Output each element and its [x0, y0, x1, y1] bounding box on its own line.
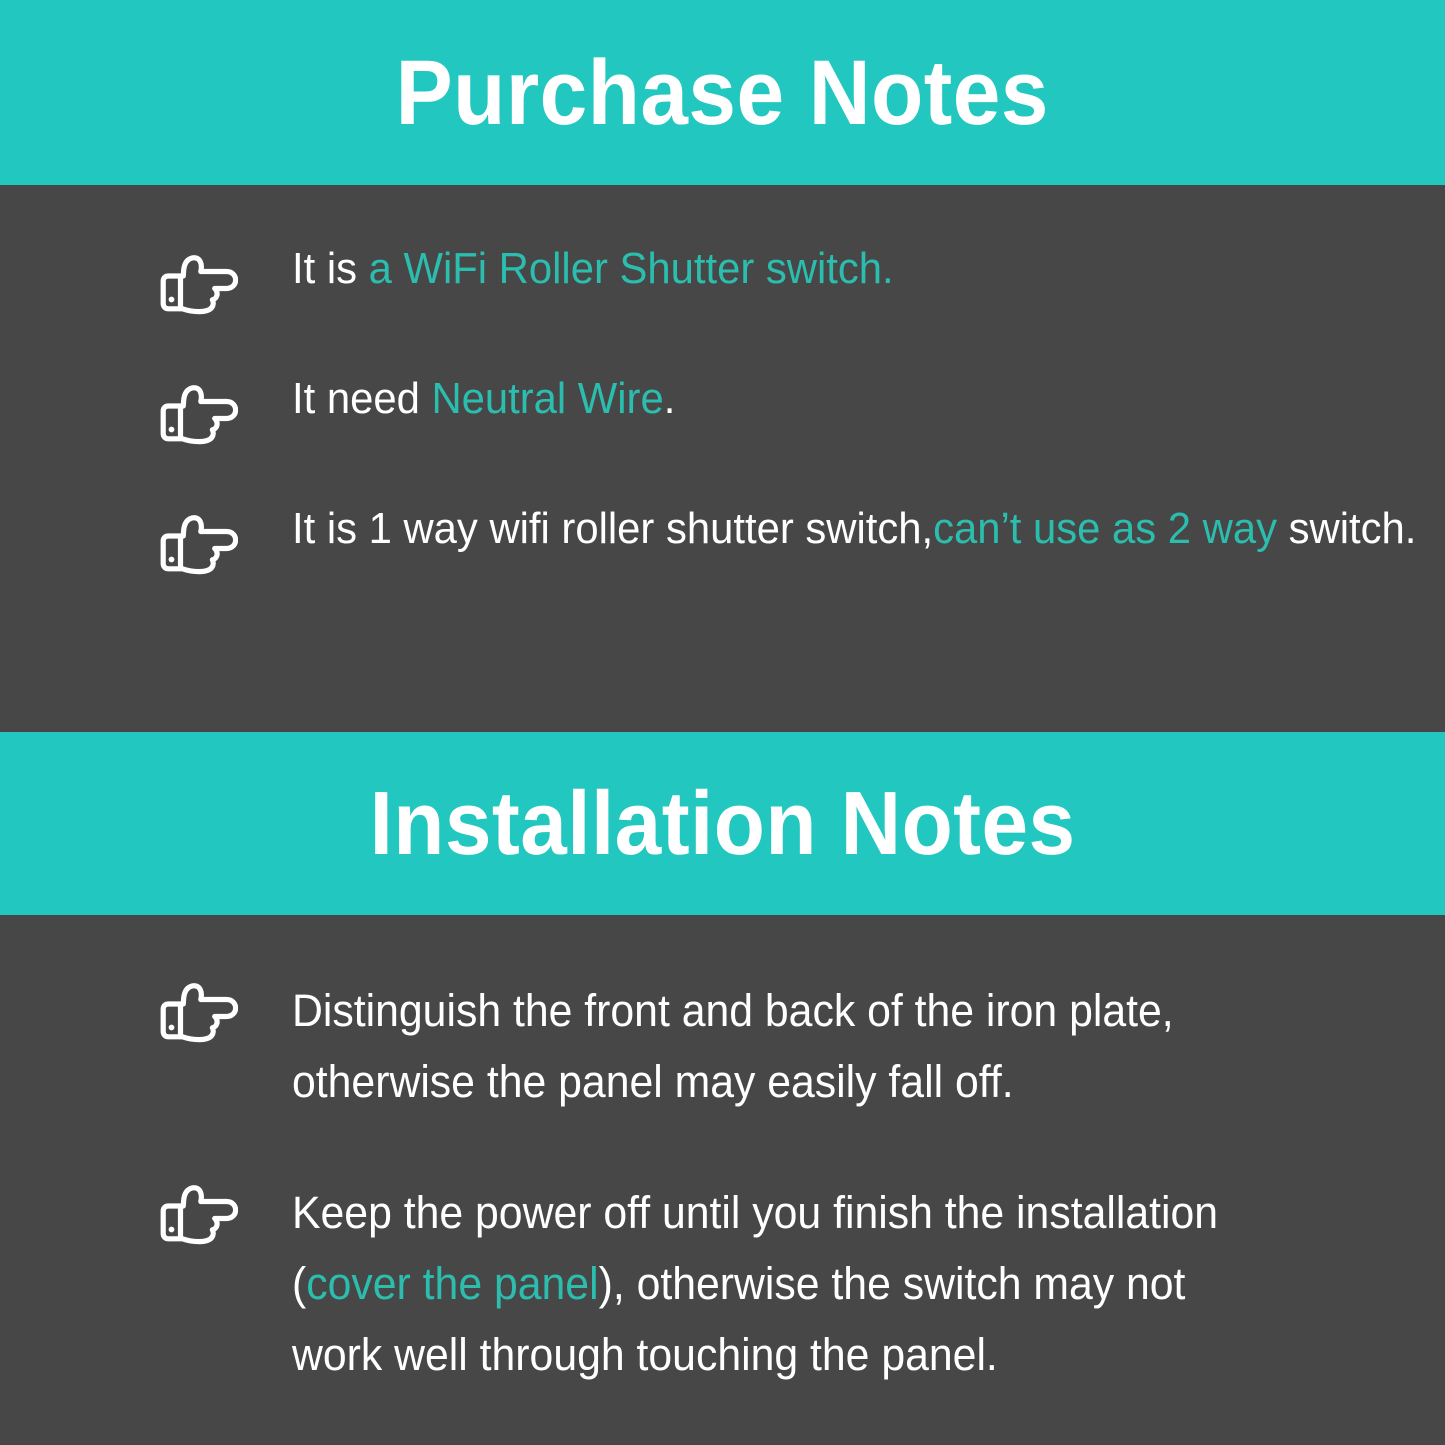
purchase-notes-banner: Purchase Notes — [0, 0, 1445, 185]
pointing-hand-icon — [160, 1183, 238, 1245]
pointing-hand-icon — [160, 253, 238, 315]
purchase-and-installation-notes-page: Purchase Notes It is a WiFi Roller Shutt… — [0, 0, 1445, 1445]
pointing-hand-icon — [160, 981, 238, 1043]
installation-notes-banner: Installation Notes — [0, 732, 1445, 915]
installation-note-text-2: Keep the power off until you finish the … — [292, 1177, 1261, 1390]
note-text-segment: It is — [292, 244, 369, 293]
installation-notes-list: Distinguish the front and back of the ir… — [0, 915, 1445, 1445]
purchase-note-text-3: It is 1 way wifi roller shutter switch,c… — [292, 507, 1416, 551]
purchase-notes-title: Purchase Notes — [396, 47, 1049, 139]
note-text-segment: It is 1 way wifi roller shutter switch, — [292, 504, 933, 553]
purchase-note-text-1: It is a WiFi Roller Shutter switch. — [292, 247, 894, 291]
installation-note-item-2: Keep the power off until you finish the … — [0, 1177, 1445, 1390]
purchase-note-item-3: It is 1 way wifi roller shutter switch,c… — [0, 507, 1445, 575]
purchase-notes-list: It is a WiFi Roller Shutter switch. It n… — [0, 185, 1445, 732]
purchase-note-text-2: It need Neutral Wire. — [292, 377, 675, 421]
note-text-segment: Distinguish the front and back of the ir… — [292, 985, 1174, 1107]
installation-notes-title: Installation Notes — [370, 779, 1076, 869]
note-text-segment-accent: can’t use as 2 way — [933, 504, 1288, 553]
note-text-segment: switch. — [1289, 504, 1417, 553]
note-text-segment-accent: cover the panel — [306, 1258, 598, 1309]
pointing-hand-icon — [160, 513, 238, 575]
purchase-note-item-1: It is a WiFi Roller Shutter switch. — [0, 247, 1445, 315]
note-text-segment-accent: Neutral Wire — [431, 374, 663, 423]
installation-note-text-1: Distinguish the front and back of the ir… — [292, 975, 1261, 1117]
note-text-segment: . — [664, 374, 676, 423]
note-text-segment-accent: a WiFi Roller Shutter switch. — [369, 244, 894, 293]
installation-note-item-1: Distinguish the front and back of the ir… — [0, 975, 1445, 1117]
note-text-segment: It need — [292, 374, 431, 423]
pointing-hand-icon — [160, 383, 238, 445]
purchase-note-item-2: It need Neutral Wire. — [0, 377, 1445, 445]
